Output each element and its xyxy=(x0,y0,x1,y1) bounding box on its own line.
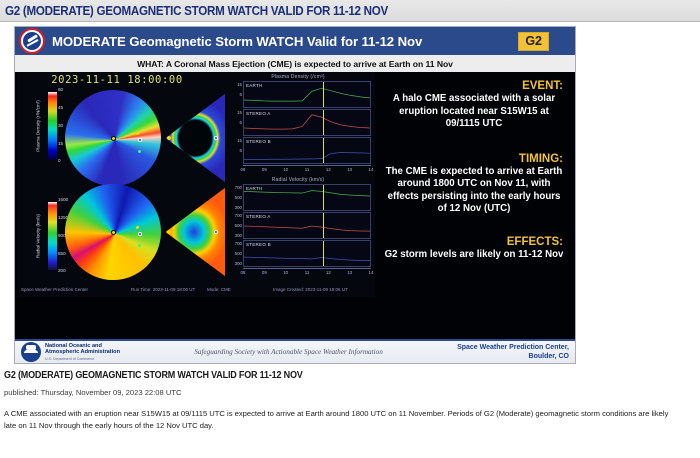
series-line xyxy=(244,185,370,210)
y-tick-label: 5 xyxy=(225,92,242,97)
sun-marker-icon xyxy=(111,230,116,235)
status-badge: G2 xyxy=(518,32,549,51)
graphic-body: 2023-11-11 18:00:00 Plasma Density (r²N/… xyxy=(15,72,575,340)
article-published: published: Thursday, November 09, 2023 2… xyxy=(4,388,694,397)
stereo-b-marker-icon xyxy=(138,150,141,153)
x-tick-label: 12 xyxy=(326,270,331,275)
earth-marker-icon xyxy=(214,230,218,234)
cme-arrival-marker xyxy=(323,213,324,238)
x-tick-label: 09 xyxy=(262,270,267,275)
x-tick-label: 08 xyxy=(241,270,246,275)
center-line-2: Boulder, CO xyxy=(457,352,569,361)
cme-arrival-marker xyxy=(323,138,324,163)
ecliptic-density-plot xyxy=(65,90,161,186)
chart-subpanel: STEREO A xyxy=(243,212,371,239)
y-tick-label: 15 xyxy=(225,138,242,143)
colorbar-plasma-density: Plasma Density (r²N/cm³) 60 45 30 15 0 xyxy=(48,92,57,160)
agency-line-2: Atmospheric Administration xyxy=(45,349,120,355)
earth-marker-icon xyxy=(138,138,142,142)
graphic-headline: MODERATE Geomagnetic Storm WATCH Valid f… xyxy=(45,34,518,49)
article: G2 (MODERATE) GEOMAGNETIC STORM WATCH VA… xyxy=(4,370,694,432)
event-heading: EVENT: xyxy=(381,80,567,92)
y-tick-label: 15 xyxy=(225,82,242,87)
cb-tick: 200 xyxy=(58,269,68,274)
timing-body: The CME is expected to arrive at Earth a… xyxy=(381,166,567,216)
caption-mode: Mode: CME xyxy=(207,287,231,292)
colorbar-density-label: Plasma Density (r²N/cm³) xyxy=(36,100,41,152)
y-tick-label: 15 xyxy=(225,110,242,115)
chart-title: Plasma Density (/cm³) xyxy=(225,74,371,80)
chart-subpanel: STEREO A xyxy=(243,109,371,136)
series-line xyxy=(244,110,370,135)
x-tick-label: 13 xyxy=(347,167,352,172)
meridional-velocity-plot xyxy=(163,184,225,280)
timing-heading: TIMING: xyxy=(381,153,567,165)
agency-name: National Oceanic and Atmospheric Adminis… xyxy=(45,343,120,362)
chart-y-axis: 700500300 xyxy=(225,240,242,266)
graphic-header: MODERATE Geomagnetic Storm WATCH Valid f… xyxy=(15,27,575,55)
stereo-a-marker-icon xyxy=(136,226,139,229)
page-title-bar: G2 (MODERATE) GEOMAGNETIC STORM WATCH VA… xyxy=(0,0,700,22)
chart-plasma-density: Plasma Density (/cm³) EARTH155STEREO A15… xyxy=(225,74,371,173)
figure-caption: Space Weather Prediction Center Run Time… xyxy=(21,287,371,295)
y-tick-label: 300 xyxy=(225,261,242,266)
caption-center: Space Weather Prediction Center xyxy=(21,287,88,292)
earth-marker-icon xyxy=(138,232,142,236)
chart-radial-velocity: Radial Velocity (km/s) EARTH700500300STE… xyxy=(225,177,371,276)
cb-tick: 550 xyxy=(58,252,68,257)
series-line xyxy=(244,82,370,107)
colorbar-velocity-label: Radial Velocity (km/s) xyxy=(36,214,41,258)
noaa-seal-icon xyxy=(21,342,41,362)
cb-tick: 0 xyxy=(58,159,63,164)
chart-subpanel: EARTH xyxy=(243,184,371,211)
colorbar-radial-velocity: Radial Velocity (km/s) 1600 1250 900 550… xyxy=(48,202,57,270)
x-tick-label: 13 xyxy=(347,270,352,275)
enlil-model-figure: 2023-11-11 18:00:00 Plasma Density (r²N/… xyxy=(17,72,375,297)
chart-x-axis: 08091011121314 xyxy=(243,268,371,276)
x-tick-label: 14 xyxy=(369,167,374,172)
series-line xyxy=(244,241,370,266)
agency-line-3: U.S. Department of Commerce xyxy=(45,356,120,362)
meridional-density-plot xyxy=(163,90,225,186)
noaa-nws-seal-icon xyxy=(19,28,45,54)
chart-title: Radial Velocity (km/s) xyxy=(225,177,371,183)
tagline: Safeguarding Society with Actionable Spa… xyxy=(120,348,457,356)
y-tick-label: 700 xyxy=(225,213,242,218)
effects-heading: EFFECTS: xyxy=(381,236,567,248)
cb-tick: 45 xyxy=(58,106,63,111)
earth-marker-icon xyxy=(214,136,218,140)
chart-y-axis: 700500300 xyxy=(225,212,242,238)
effects-body: G2 storm levels are likely on 11-12 Nov xyxy=(381,249,567,262)
sun-marker-icon xyxy=(167,136,171,140)
stereo-b-marker-icon xyxy=(138,244,141,247)
y-tick-label: 300 xyxy=(225,233,242,238)
y-tick-label: 700 xyxy=(225,185,242,190)
cme-arrival-marker xyxy=(323,110,324,135)
graphic-footer: National Oceanic and Atmospheric Adminis… xyxy=(15,339,575,363)
y-tick-label: 300 xyxy=(225,205,242,210)
chart-subpanel: STEREO B xyxy=(243,240,371,267)
chart-plot-area: EARTH155STEREO A155STEREO B155 xyxy=(225,81,371,164)
stereo-a-marker-icon xyxy=(136,132,139,135)
cb-tick: 1600 xyxy=(58,198,68,203)
x-tick-label: 12 xyxy=(326,167,331,172)
series-line xyxy=(244,138,370,163)
cme-arrival-marker xyxy=(323,241,324,266)
series-line xyxy=(244,213,370,238)
sun-marker-icon xyxy=(111,136,116,141)
x-tick-label: 10 xyxy=(283,270,288,275)
cb-tick: 30 xyxy=(58,124,63,129)
y-tick-label: 500 xyxy=(225,223,242,228)
storm-watch-graphic: MODERATE Geomagnetic Storm WATCH Valid f… xyxy=(14,26,576,364)
event-body: A halo CME associated with a solar erupt… xyxy=(381,93,567,131)
page-title: G2 (MODERATE) GEOMAGNETIC STORM WATCH VA… xyxy=(5,4,388,18)
y-tick-label: 5 xyxy=(225,120,242,125)
caption-run-time: Run Time: 2023-11-09 18:00 UT xyxy=(131,287,195,292)
cb-tick: 60 xyxy=(58,88,63,93)
article-body: A CME associated with an eruption near S… xyxy=(4,408,680,432)
ecliptic-velocity-plot xyxy=(65,184,161,280)
summary-text-panel: EVENT: A halo CME associated with a sola… xyxy=(375,72,575,340)
chart-plot-area: EARTH700500300STEREO A700500300STEREO B7… xyxy=(225,184,371,267)
cme-arrival-marker xyxy=(323,185,324,210)
chart-y-axis: 155 xyxy=(225,137,242,153)
y-tick-label: 500 xyxy=(225,251,242,256)
chart-y-axis: 700500300 xyxy=(225,184,242,210)
chart-y-axis: 155 xyxy=(225,81,242,97)
time-series-panel: Plasma Density (/cm³) EARTH155STEREO A15… xyxy=(225,74,371,279)
y-tick-label: 5 xyxy=(225,148,242,153)
chart-x-axis: 08091011121314 xyxy=(243,165,371,173)
chart-subpanel: EARTH xyxy=(243,81,371,108)
what-line: WHAT: A Coronal Mass Ejection (CME) is e… xyxy=(15,55,575,72)
sun-marker-icon xyxy=(167,230,171,234)
x-tick-label: 11 xyxy=(305,270,310,275)
y-tick-label: 700 xyxy=(225,241,242,246)
x-tick-label: 08 xyxy=(241,167,246,172)
cme-arrival-marker xyxy=(323,82,324,107)
center-name: Space Weather Prediction Center, Boulder… xyxy=(457,343,569,361)
article-title: G2 (MODERATE) GEOMAGNETIC STORM WATCH VA… xyxy=(4,370,625,381)
cb-tick: 15 xyxy=(58,142,63,147)
x-tick-label: 10 xyxy=(283,167,288,172)
model-timestamp: 2023-11-11 18:00:00 xyxy=(17,74,217,86)
chart-subpanel: STEREO B xyxy=(243,137,371,164)
x-tick-label: 14 xyxy=(369,270,374,275)
caption-image-created: Image Created: 2023-11-09 19:06 UT xyxy=(273,287,348,292)
x-tick-label: 11 xyxy=(305,167,310,172)
x-tick-label: 09 xyxy=(262,167,267,172)
center-line-1: Space Weather Prediction Center, xyxy=(457,343,569,352)
chart-y-axis: 155 xyxy=(225,109,242,125)
y-tick-label: 500 xyxy=(225,195,242,200)
